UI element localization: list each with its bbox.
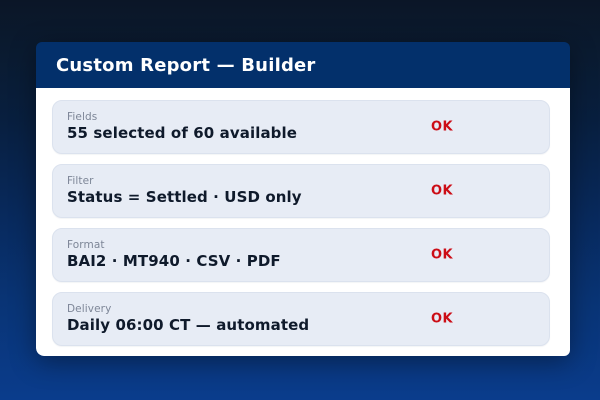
status-badge: OK <box>431 312 453 327</box>
status-badge: OK <box>431 120 453 135</box>
row-value: Daily 06:00 CT — automated <box>67 316 535 335</box>
row-text: Format BAI2 · MT940 · CSV · PDF <box>67 239 535 271</box>
row-text: Fields 55 selected of 60 available <box>67 111 535 143</box>
row-text: Filter Status = Settled · USD only <box>67 175 535 207</box>
row-text: Delivery Daily 06:00 CT — automated <box>67 303 535 335</box>
row-label: Delivery <box>67 303 535 316</box>
window-titlebar: Custom Report — Builder <box>36 42 570 88</box>
builder-row-fields[interactable]: Fields 55 selected of 60 available OK <box>52 100 550 154</box>
builder-row-filter[interactable]: Filter Status = Settled · USD only OK <box>52 164 550 218</box>
status-badge: OK <box>431 248 453 263</box>
report-builder-window: Custom Report — Builder Fields 55 select… <box>36 42 570 356</box>
row-value: BAI2 · MT940 · CSV · PDF <box>67 252 535 271</box>
builder-row-format[interactable]: Format BAI2 · MT940 · CSV · PDF OK <box>52 228 550 282</box>
row-label: Filter <box>67 175 535 188</box>
row-value: 55 selected of 60 available <box>67 124 535 143</box>
row-value: Status = Settled · USD only <box>67 188 535 207</box>
status-badge: OK <box>431 184 453 199</box>
builder-row-delivery[interactable]: Delivery Daily 06:00 CT — automated OK <box>52 292 550 346</box>
window-title: Custom Report — Builder <box>56 55 316 76</box>
builder-panel: Fields 55 selected of 60 available OK Fi… <box>36 88 570 356</box>
row-label: Fields <box>67 111 535 124</box>
row-label: Format <box>67 239 535 252</box>
